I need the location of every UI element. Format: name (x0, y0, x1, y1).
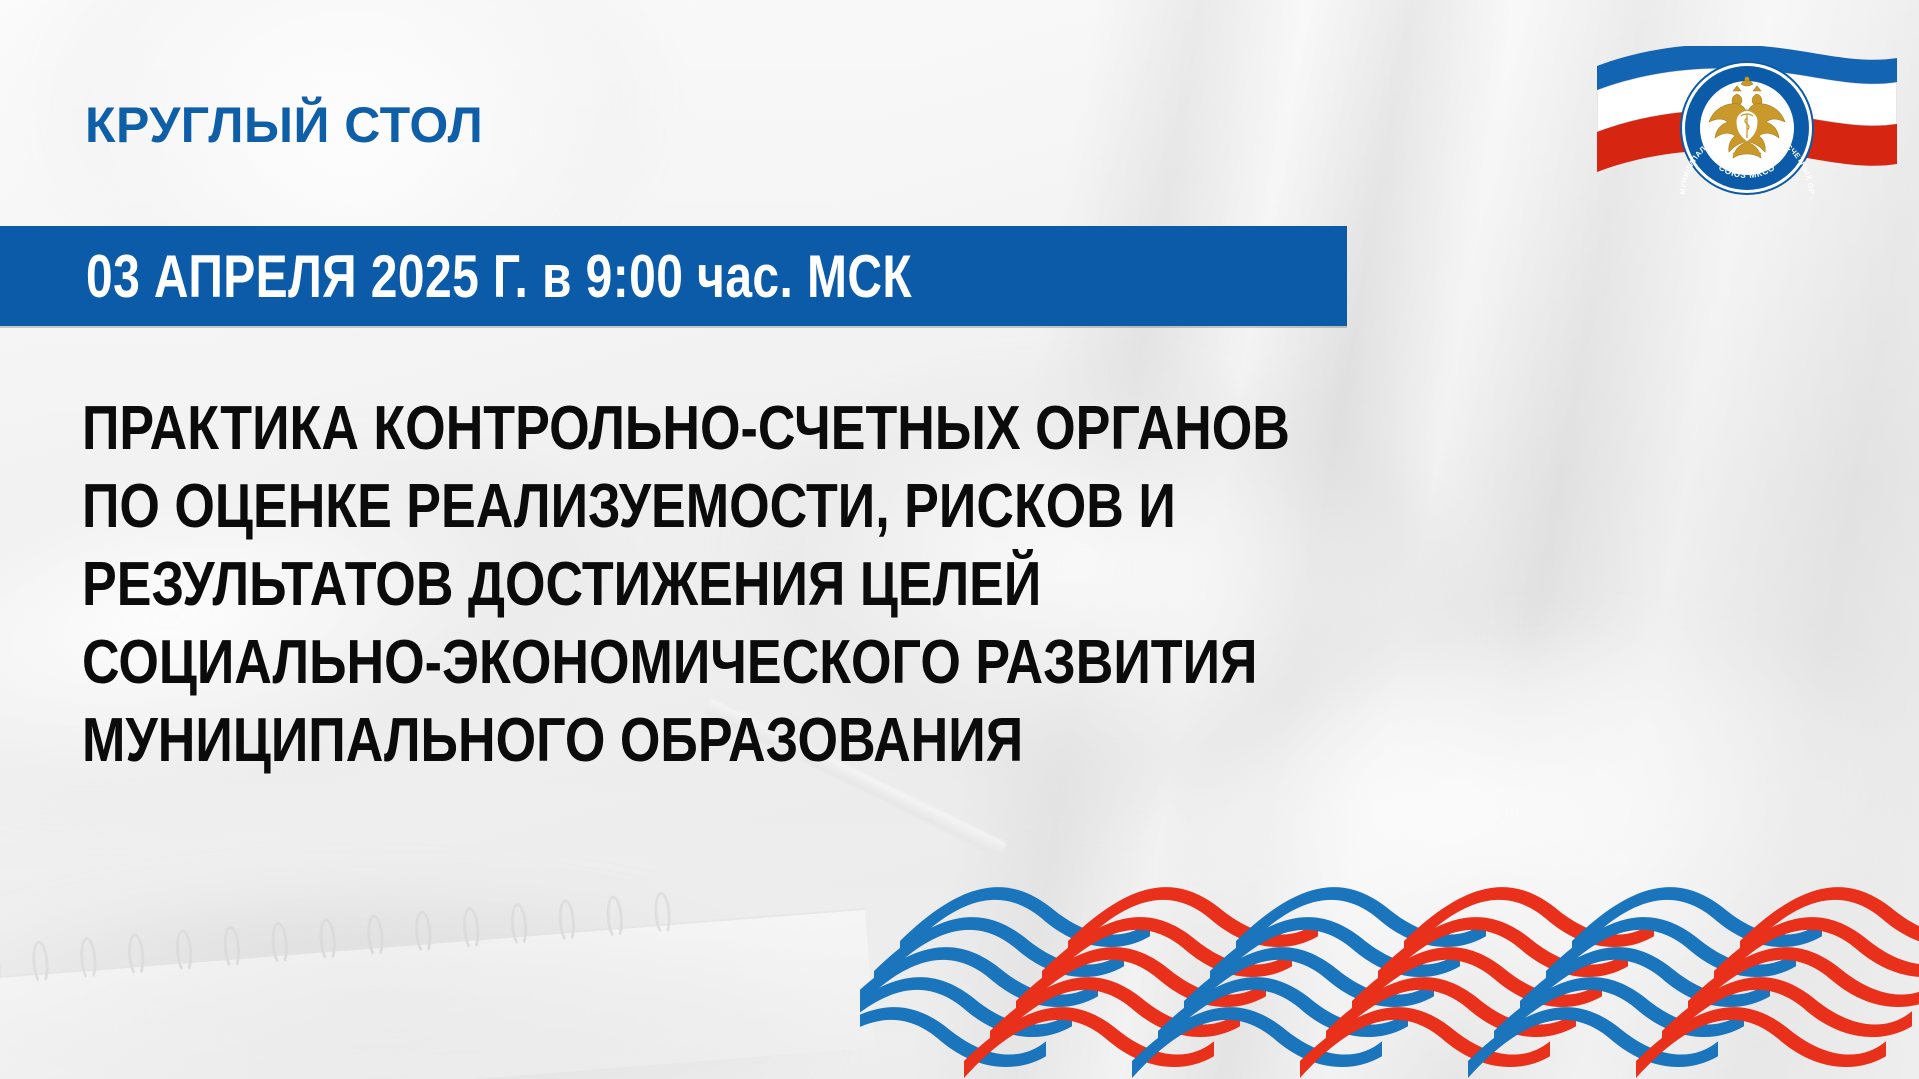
date-banner-text: 03 АПРЕЛЯ 2025 Г. в 9:00 час. МСК (86, 242, 912, 311)
headline-line-4: СОЦИАЛЬНО-ЭКОНОМИЧЕСКОГО РАЗВИТИЯ (82, 624, 1476, 702)
headline-line-3: РЕЗУЛЬТАТОВ ДОСТИЖЕНИЯ ЦЕЛЕЙ (82, 546, 1476, 624)
page-title: ПРАКТИКА КОНТРОЛЬНО-СЧЕТНЫХ ОРГАНОВ ПО О… (82, 390, 1742, 780)
poster-canvas: СОЮЗ МУНИЦИПАЛЬНЫХ КОНТРОЛЬНО-СЧЕТНЫХ ОР… (0, 0, 1919, 1079)
date-banner: 03 АПРЕЛЯ 2025 Г. в 9:00 час. МСК (0, 226, 1347, 326)
headline-line-1: ПРАКТИКА КОНТРОЛЬНО-СЧЕТНЫХ ОРГАНОВ (82, 390, 1476, 468)
soyuz-mkso-emblem-icon: СОЮЗ МУНИЦИПАЛЬНЫХ КОНТРОЛЬНО-СЧЕТНЫХ ОР… (1597, 46, 1897, 206)
page-kicker: КРУГЛЫЙ СТОЛ (85, 96, 483, 154)
headline-line-2: ПО ОЦЕНКЕ РЕАЛИЗУЕМОСТИ, РИСКОВ И (82, 468, 1476, 546)
headline-line-5: МУНИЦИПАЛЬНОГО ОБРАЗОВАНИЯ (82, 702, 1476, 780)
wave-ribbon-decoration-icon (860, 869, 1919, 1079)
